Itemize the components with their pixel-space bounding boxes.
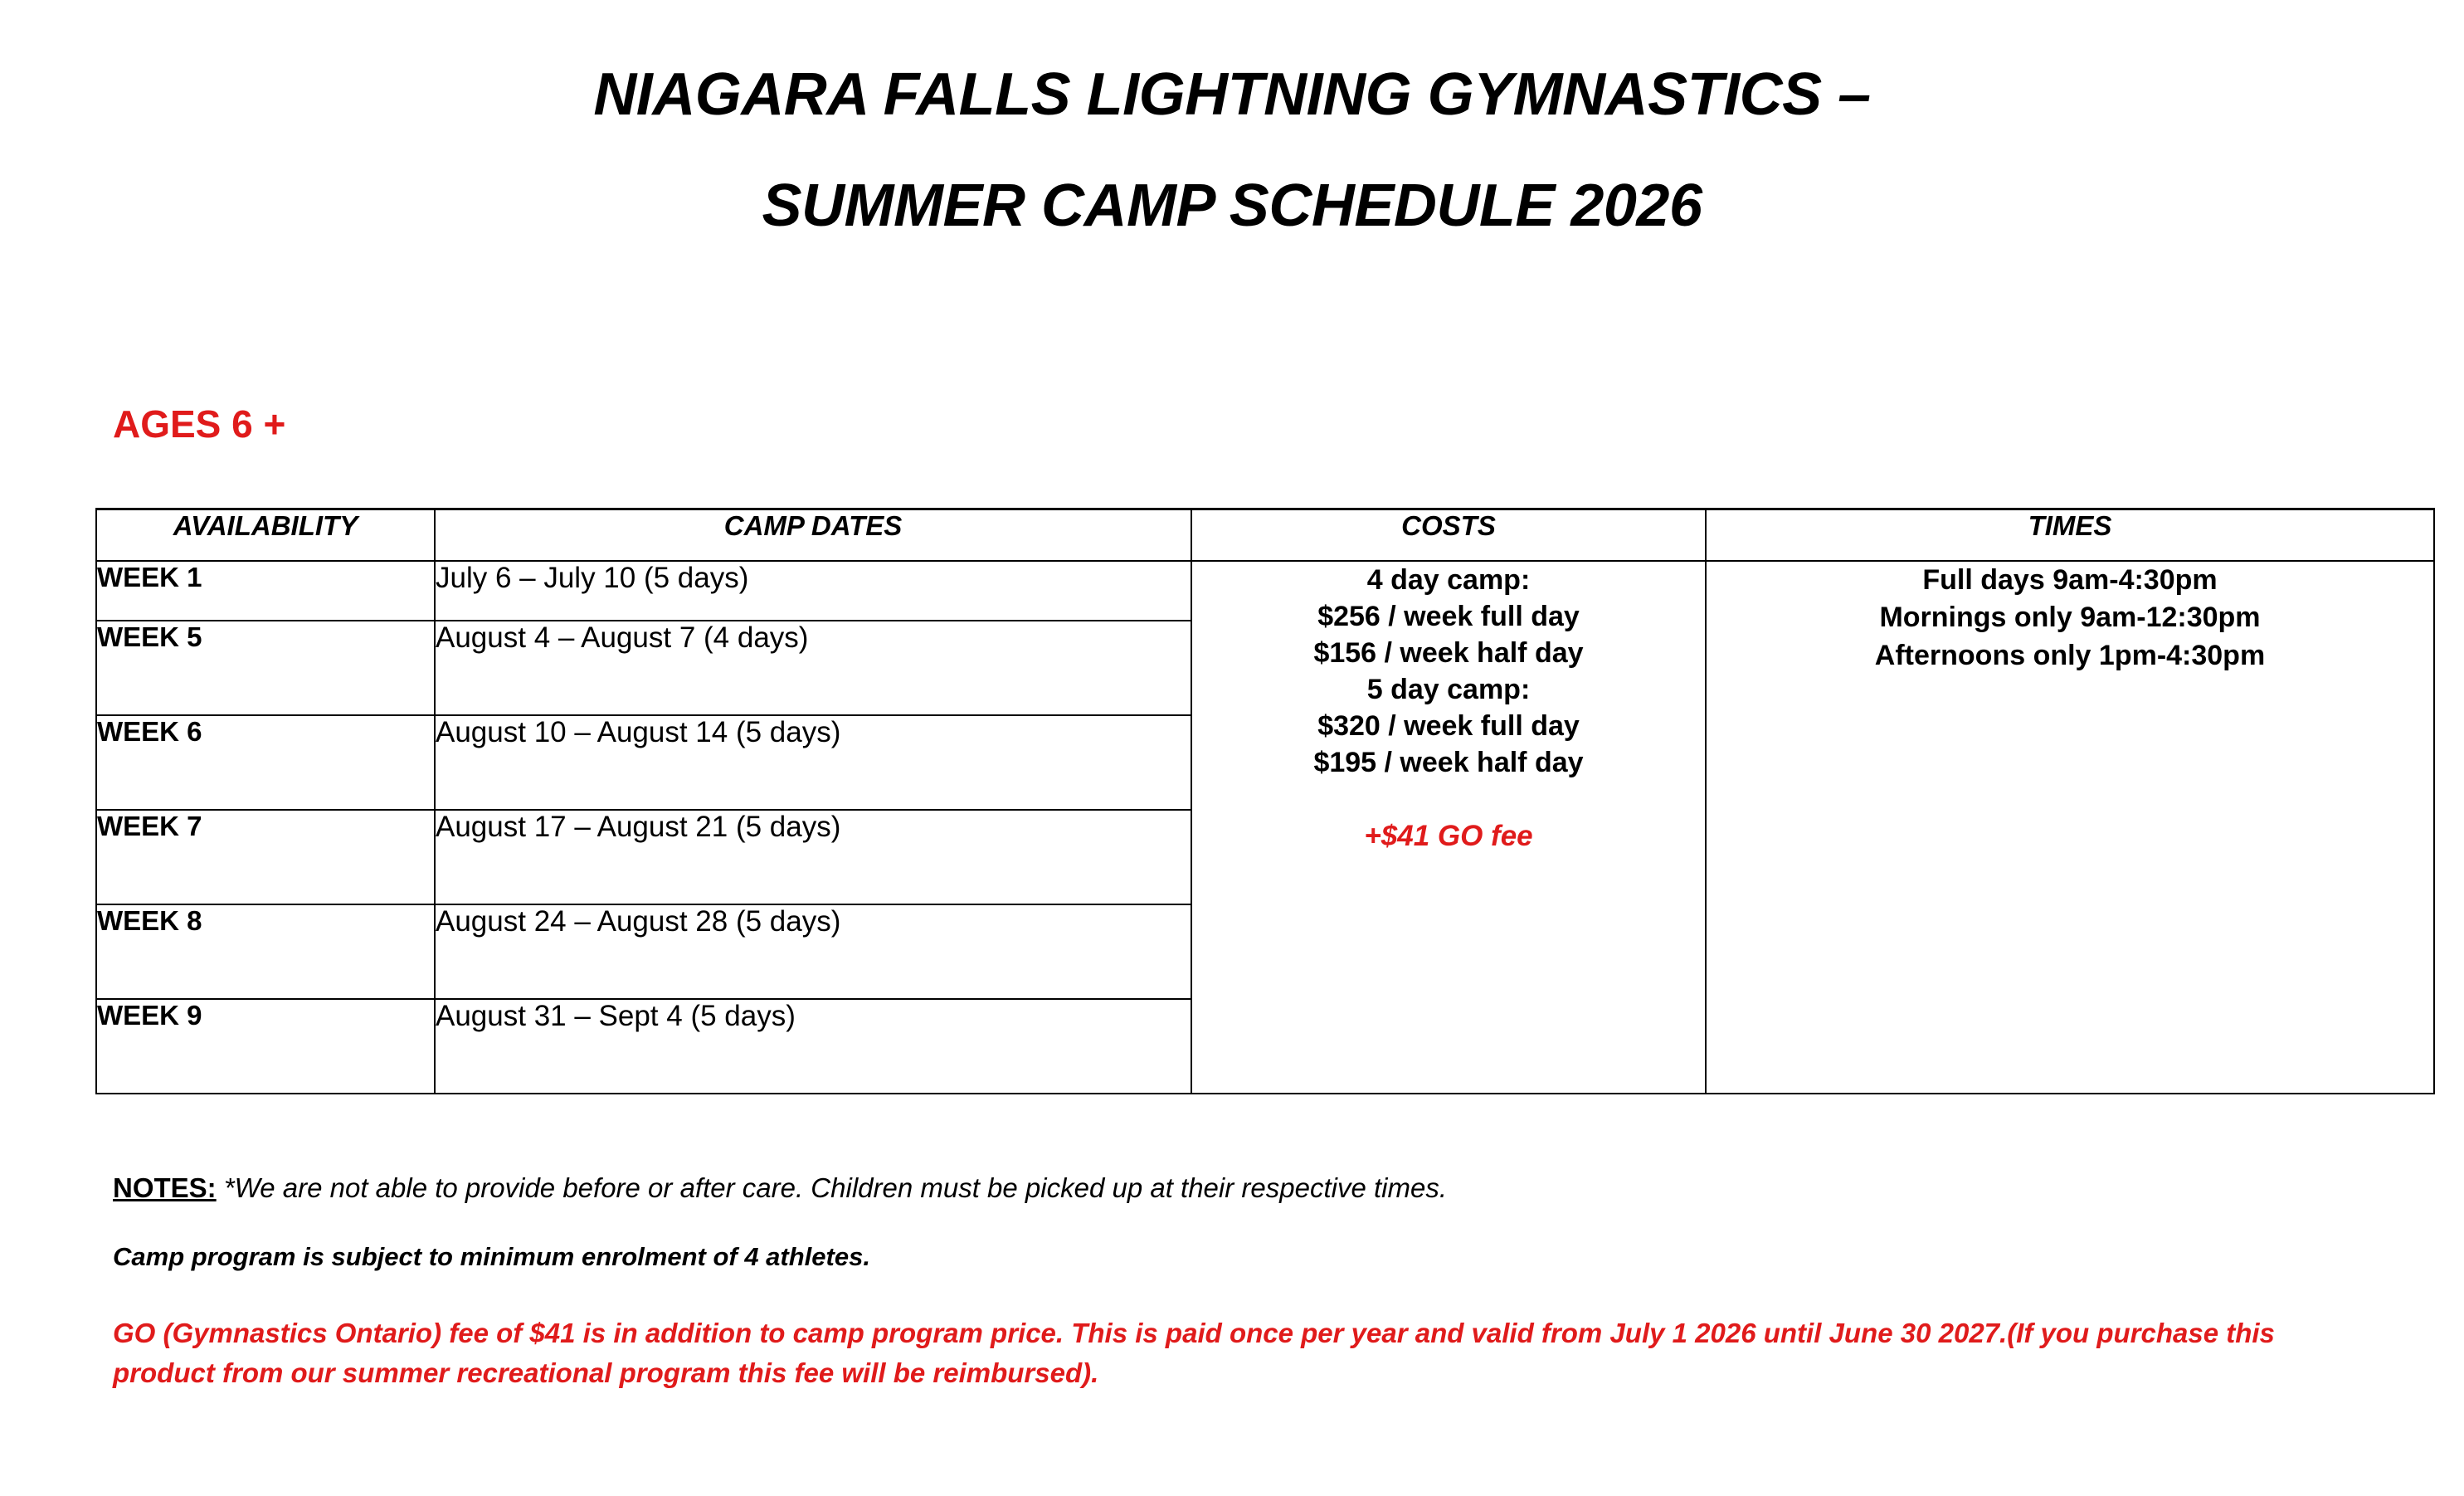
times-full-days: Full days 9am-4:30pm [1707,562,2433,600]
camp-dates-value: August 24 – August 28 (5 days) [435,904,1191,999]
camp-dates-value: August 17 – August 21 (5 days) [435,810,1191,904]
note-line-primary: NOTES: *We are not able to provide befor… [113,1172,2386,1205]
camp-dates-value: August 4 – August 7 (4 days) [435,621,1191,715]
camp-schedule-table: AVAILABILITY CAMP DATES COSTS TIMES WEEK… [95,508,2435,1094]
costs-five-day-label: 5 day camp: [1192,671,1705,708]
week-label: WEEK 9 [96,999,435,1094]
table-row: WEEK 1 July 6 – July 10 (5 days) 4 day c… [96,561,2434,621]
go-fee-note: +$41 GO fee [1192,820,1705,853]
week-label: WEEK 5 [96,621,435,715]
week-label: WEEK 7 [96,810,435,904]
camp-dates-value: August 10 – August 14 (5 days) [435,715,1191,810]
week-label: WEEK 8 [96,904,435,999]
note-text-go-fee: GO (Gymnastics Ontario) fee of $41 is in… [113,1313,2353,1393]
week-label: WEEK 6 [96,715,435,810]
document-page: NIAGARA FALLS LIGHTNING GYMNASTICS – SUM… [0,0,2464,1496]
notes-label: NOTES: [113,1172,217,1203]
costs-five-day-full: $320 / week full day [1192,708,1705,744]
costs-five-day-half: $195 / week half day [1192,744,1705,781]
camp-dates-value: July 6 – July 10 (5 days) [435,561,1191,621]
title-line-1: NIAGARA FALLS LIGHTNING GYMNASTICS – [0,65,2464,124]
times-afternoons: Afternoons only 1pm-4:30pm [1707,637,2433,675]
ages-heading: AGES 6 + [113,402,285,446]
times-mornings: Mornings only 9am-12:30pm [1707,599,2433,637]
costs-four-day-half: $156 / week half day [1192,635,1705,671]
times-cell: Full days 9am-4:30pm Mornings only 9am-1… [1706,561,2434,1094]
costs-four-day-label: 4 day camp: [1192,562,1705,598]
title-line-2: SUMMER CAMP SCHEDULE 2026 [0,176,2464,236]
header-camp-dates: CAMP DATES [435,509,1191,561]
camp-dates-value: August 31 – Sept 4 (5 days) [435,999,1191,1094]
costs-cell: 4 day camp: $256 / week full day $156 / … [1191,561,1706,1094]
notes-section: NOTES: *We are not able to provide befor… [113,1172,2386,1393]
note-text-1: *We are not able to provide before or af… [224,1172,1447,1203]
document-title: NIAGARA FALLS LIGHTNING GYMNASTICS – SUM… [0,65,2464,236]
note-text-2: Camp program is subject to minimum enrol… [113,1241,2386,1272]
header-costs: COSTS [1191,509,1706,561]
costs-four-day-full: $256 / week full day [1192,598,1705,635]
header-availability: AVAILABILITY [96,509,435,561]
header-times: TIMES [1706,509,2434,561]
table-header-row: AVAILABILITY CAMP DATES COSTS TIMES [96,509,2434,561]
week-label: WEEK 1 [96,561,435,621]
